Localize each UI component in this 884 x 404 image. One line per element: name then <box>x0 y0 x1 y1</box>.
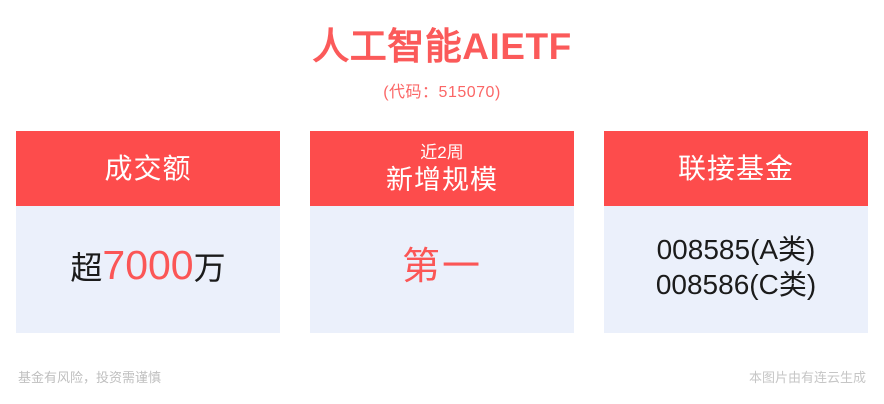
card-header-feeder-fund: 联接基金 <box>604 131 868 206</box>
card-body-turnover: 超7000万 <box>16 206 280 333</box>
card-eyebrow-new-scale: 近2周 <box>420 142 463 164</box>
card-title-feeder-fund: 联接基金 <box>678 152 794 185</box>
risk-disclaimer: 基金有风险，投资需谨慎 <box>18 369 161 387</box>
card-title-new-scale: 新增规模 <box>386 164 498 196</box>
poster-footer: 基金有风险，投资需谨慎 本图片由有连云生成 <box>0 358 884 404</box>
card-body-feeder-fund: 008585(A类) 008586(C类) <box>604 206 868 333</box>
stat-cards-row: 成交额 超7000万 近2周 新增规模 第一 联接基金 00 <box>0 131 884 358</box>
card-title-turnover: 成交额 <box>104 152 191 185</box>
turnover-number: 7000 <box>102 245 193 285</box>
stat-card-turnover: 成交额 超7000万 <box>16 131 280 333</box>
stat-card-new-scale: 近2周 新增规模 第一 <box>310 131 574 333</box>
feeder-fund-code-c: 008586(C类) <box>656 267 816 302</box>
image-credit: 本图片由有连云生成 <box>749 369 866 387</box>
card-body-new-scale: 第一 <box>310 206 574 333</box>
feeder-fund-code-a: 008585(A类) <box>657 232 816 267</box>
poster-header: 人工智能AIETF (代码：515070) <box>0 0 884 104</box>
card-header-new-scale: 近2周 新增规模 <box>310 131 574 206</box>
new-scale-rank-value: 第一 <box>402 244 482 290</box>
etf-promo-poster: 人工智能AIETF (代码：515070) 成交额 超7000万 近2周 新增规… <box>0 0 884 404</box>
turnover-prefix: 超 <box>70 248 102 288</box>
fund-code-subtitle: (代码：515070) <box>0 82 884 104</box>
page-title: 人工智能AIETF <box>0 24 884 70</box>
turnover-value: 超7000万 <box>70 245 225 288</box>
stat-card-feeder-fund: 联接基金 008585(A类) 008586(C类) <box>604 131 868 333</box>
turnover-suffix: 万 <box>194 248 226 288</box>
card-header-turnover: 成交额 <box>16 131 280 206</box>
